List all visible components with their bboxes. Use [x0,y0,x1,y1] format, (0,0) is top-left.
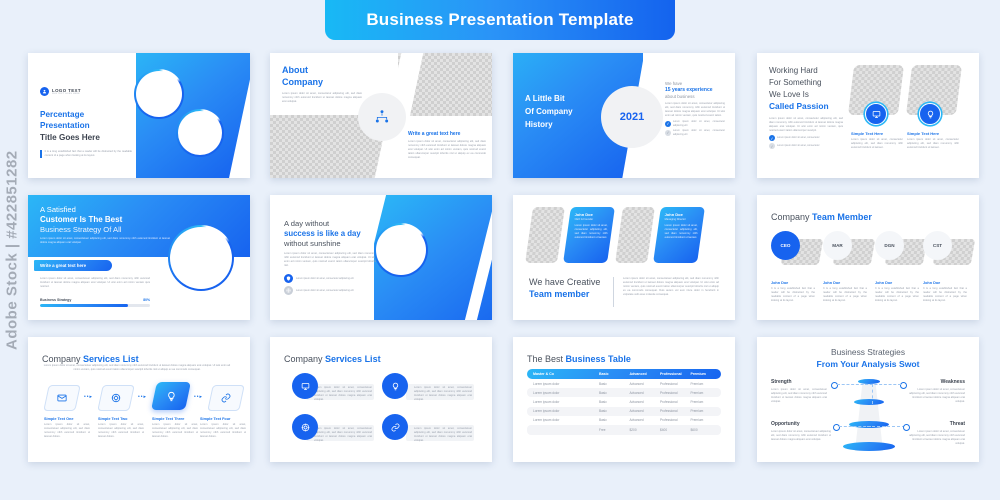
slide8-badge-3-label: DGN [884,243,894,248]
table-cell: Advanced [630,416,661,425]
slide5-body-bottom: Lorem ipsum dolor sit amet, consectetuer… [40,277,150,289]
table-cell: Advanced [630,388,661,397]
slide3-year: 2021 [620,111,644,123]
slide3-body: Lorem ipsum dolor sit amet, consectetur … [665,102,725,118]
table-cell: Premium [691,379,722,388]
slide5-body-top: Lorem ipsum dolor sit amet, consectetuer… [40,237,170,245]
slide10-item-2-body: Lorem ipsum dolor sit amet, consectetuer… [414,386,472,402]
slide6-title-line1: A day without [284,219,376,228]
slide10-item-4-body: Lorem ipsum dolor sit amet, consectetuer… [414,427,472,443]
slide7-member-1-body: Lorem ipsum dolor sit amet, consectetur … [575,224,608,240]
slide5-title-line2: Customer Is The Best [40,215,170,224]
slide6-bullet-2-text: Lorem ipsum dolor sit amet, consectetur … [296,289,354,293]
page-title-banner: Business Presentation Template [325,0,675,40]
slide7-image-1 [525,207,565,263]
slide-swot-strategies[interactable]: Business Strategies From Your Analysis S… [757,337,979,462]
slide7-title-line1: We have Creative [529,277,607,287]
slide4-bullet-2: ✓ Lorem ipsum dolor sit amet, consectetu… [769,143,843,149]
funnel-body [855,379,883,451]
slide4-title-line4: Called Passion [769,101,843,112]
slide-called-passion[interactable]: Working Hard For Something We Love Is Ca… [757,53,979,178]
slide2-right-body: Lorem ipsum dolor sit amet, consectetur … [408,140,486,160]
swot-connector-strength-v [872,384,874,404]
table-cell: Basic [599,379,630,388]
link-icon [221,393,231,403]
slide1-accent-bar [40,150,42,158]
slide-about-company[interactable]: About Company Lorem ipsum dolor sit amet… [270,53,492,178]
table-cell: Advanced [630,407,661,416]
slide-business-table[interactable]: The Best Business Table Master & Co Basi… [513,337,735,462]
slide5-title-line3: Business Strategy Of All [40,225,170,234]
slide9-arrow-1-icon: ••▸ [84,394,93,400]
table-cell: Lorem ipsum dolor [527,397,599,406]
slide4-card-1-body: Lorem ipsum dolor sit amet, consectetur … [851,138,903,150]
table-cell: Basic [599,407,630,416]
slide6-bullet-1: Lorem ipsum dolor sit amet, consectetur … [284,274,376,283]
slide-company-history[interactable]: A Little Bit Of Company History 2021 We … [513,53,735,178]
table-cell: $400 [660,425,691,435]
slide6-body: Lorem ipsum dolor sit amet, consectetuer… [284,252,376,268]
swot-weakness-label: Weakness [909,379,965,385]
slide8-badge-4: CST [923,231,952,260]
swot-connector-threat [867,426,905,427]
table-cell: Basic [599,388,630,397]
slide5-progress: Business Strategy 80% [40,298,150,307]
slide-creative-team-member[interactable]: John Doe CEO & Founder Lorem ipsum dolor… [513,195,735,320]
table-cell: Premium [691,388,722,397]
swot-threat-label: Threat [909,421,965,427]
lightbulb-icon[interactable] [382,373,408,399]
swot-strength-body: Lorem ipsum dolor sit amet, consectetuer… [771,388,827,404]
table-cell: Professional [660,416,691,425]
slide7-member-2-name: John Doe [665,212,698,217]
table-cell: $200 [630,425,661,435]
table-cell: Premium [691,416,722,425]
table-cell: Lorem ipsum dolor [527,379,599,388]
table-cell: Advanced [630,379,661,388]
page-title: Business Presentation Template [366,10,633,30]
funnel-level-4 [843,442,895,451]
table-cell: Advanced [630,397,661,406]
slide10-item-3-body: Lorem ipsum dolor sit amet, consectetuer… [314,427,372,443]
slide12-title-line2: From Your Analysis Swot [757,359,979,369]
slide9-item-1-label: Simple Text One [44,417,90,421]
slide10-title-highlight: Services List [325,354,381,364]
slide1-title-line1: Percentage Presentation [40,109,132,131]
slide8-member-1-body: It is a long established fact that a rea… [771,287,815,303]
check-icon: ✓ [769,143,775,149]
slide3-bullet-1-text: Lorem ipsum dolor sit amet, consectetur … [673,120,725,127]
slide12-title-line1: Business Strategies [757,347,979,357]
mail-icon [57,393,67,403]
slide8-member-1-name: John Doe [771,281,815,285]
target-icon[interactable] [292,414,318,440]
table-row: Lorem ipsum dolor Basic Advanced Profess… [527,416,721,425]
slide3-sub: about business [665,94,725,99]
shield-icon [284,274,293,283]
slide8-member-4-body: It is a long established fact that a rea… [923,287,967,303]
slide4-title-line2: For Something [769,77,843,88]
swot-funnel [841,379,897,451]
slide8-badge-4-label: CST [933,243,942,248]
slide8-badge-1: CEO [771,231,800,260]
slide9-arrow-3-icon: ••▸ [194,394,203,400]
table-cell: Basic [599,416,630,425]
slide6-title-line2: success is like a day [284,229,376,238]
slide2-title-line1: About [282,65,362,76]
table-cell [527,425,599,435]
slide9-item-3-body: Lorem ipsum dolor sit amet, consectetuer… [152,423,198,439]
swot-node-threat [903,424,910,431]
slide5-progress-track [40,304,150,307]
slide5-progress-value: 80% [143,298,150,302]
slide-satisfied-customer[interactable]: A Satisfied Customer Is The Best Busines… [28,195,250,320]
slide4-bullet-1-text: Lorem ipsum dolor sit amet, consectetur [777,136,820,140]
table-header-1: Basic [599,369,630,379]
slide-services-list-grid[interactable]: Company Services List Lorem ipsum dolor … [270,337,492,462]
table-header-2: Advanced [630,369,661,379]
slide8-badge-2-label: MAR [832,243,842,248]
table-cell: Free [599,425,630,435]
logo-subtext: SUB TEXT GOES HERE [52,93,81,95]
slide7-member-2-body: Lorem ipsum dolor sit amet, consectetur … [665,224,698,240]
slide8-member-3-name: John Doe [875,281,919,285]
slide7-body: Lorem ipsum dolor sit amet, consectetuer… [623,277,719,297]
table-cell: Lorem ipsum dolor [527,407,599,416]
slide3-title-line1: A Little Bit [525,93,591,104]
slide8-title-plain: Company [771,212,812,222]
table-cell: $600 [691,425,722,435]
slide6-bullet-1-text: Lorem ipsum dolor sit amet, consectetur … [296,277,354,281]
swot-connector-weakness [865,384,901,385]
logo: LOGO TEXT SUB TEXT GOES HERE [40,87,81,96]
swot-threat-body: Lorem ipsum dolor sit amet, consectetuer… [909,430,965,446]
link-icon[interactable] [382,414,408,440]
slide8-badge-2: MAR [823,231,852,260]
table-cell: Lorem ipsum dolor [527,416,599,425]
funnel-level-2 [854,399,884,405]
table-cell: Premium [691,397,722,406]
slide4-body: Lorem ipsum dolor sit amet, consectetur … [769,117,843,133]
slide7-divider [613,277,614,307]
swot-strength-label: Strength [771,379,827,385]
slide7-member-card-2[interactable]: John Doe Managing Director Lorem ipsum d… [653,207,705,263]
check-icon: ✓ [769,135,775,141]
slide9-title-highlight: Services List [83,354,139,364]
slide1-image-circle-2 [176,109,224,157]
slide5-image-circle [168,225,234,291]
slide3-bullet-1: ✓ Lorem ipsum dolor sit amet, consectetu… [665,120,725,127]
slide9-arrow-2-icon: ••▸ [138,394,147,400]
slide4-card-2-label: Simple Text Here [907,131,959,136]
table-cell: Professional [660,397,691,406]
slide6-image-circle [374,223,428,277]
org-chart-icon [360,95,404,139]
table-cell: Basic [599,397,630,406]
check-icon: ✓ [665,130,671,136]
slides-grid: LOGO TEXT SUB TEXT GOES HERE Percentage … [0,40,1000,500]
slide9-item-1-body: Lorem ipsum dolor sit amet, consectetuer… [44,423,90,439]
slide10-item-1-body: Lorem ipsum dolor sit amet, consectetuer… [314,386,372,402]
slide7-image-2 [615,207,655,263]
slide11-title-highlight: Business Table [566,354,631,364]
table-header-4: Premium [691,369,722,379]
slide4-card-2-body: Lorem ipsum dolor sit amet, consectetur … [907,138,959,150]
slide7-member-card-1[interactable]: John Doe CEO & Founder Lorem ipsum dolor… [563,207,615,263]
slide4-title-line3: We Love Is [769,89,843,100]
slide9-item-3-label: Simple Text Three [152,417,198,421]
slide2-title-line2: Company [282,77,362,88]
slide-services-list-steps[interactable]: Company Services List Lorem ipsum dolor … [28,337,250,462]
slide3-kicker: We have [665,81,725,86]
slide-percentage-presentation[interactable]: LOGO TEXT SUB TEXT GOES HERE Percentage … [28,53,250,178]
slide-day-without-sunshine[interactable]: A day without success is like a day with… [270,195,492,320]
slide3-highlight: 15 years experience [665,87,725,93]
slide5-cta-button[interactable]: Write a great text here [34,260,112,271]
slide1-body: It is a long established fact that a rea… [45,150,132,158]
swot-node-weakness [900,382,907,389]
slide5-title-line1: A Satisfied [40,205,170,214]
swot-opportunity-label: Opportunity [771,421,831,427]
table-row: Lorem ipsum dolor Basic Advanced Profess… [527,379,721,388]
table-row: Lorem ipsum dolor Basic Advanced Profess… [527,388,721,397]
slide7-member-2-role: Managing Director [665,218,698,221]
table-cell: Premium [691,407,722,416]
monitor-icon [865,103,887,125]
slide4-bullet-1: ✓ Lorem ipsum dolor sit amet, consectetu… [769,135,843,141]
swot-weakness-body: Lorem ipsum dolor sit amet, consectetuer… [909,388,965,404]
slide9-item-2-body: Lorem ipsum dolor sit amet, consectetuer… [98,423,144,439]
slide8-member-2-name: John Doe [823,281,867,285]
lightbulb-icon [919,103,941,125]
slide7-member-1-name: John Doe [575,212,608,217]
slide8-badge-1-label: CEO [781,243,791,248]
slide-company-team-member[interactable]: Company Team Member CEO John Doe It is a… [757,195,979,320]
slide10-title-plain: Company [284,354,325,364]
slide9-step-1[interactable] [43,385,81,411]
check-icon: ✓ [665,121,671,127]
swot-opportunity-body: Lorem ipsum dolor sit amet, consectetuer… [771,430,831,442]
slide5-cta-label: Write a great text here [40,263,86,268]
slide3-title-line3: History [525,119,591,130]
slide9-body: Lorem ipsum dolor sit amet, consectetuer… [42,364,232,372]
slide2-center-circle [358,93,406,141]
slide6-title-line3: without sunshine [284,239,376,248]
globe-icon [284,286,293,295]
slide9-step-2[interactable] [97,385,135,411]
slide8-badge-3: DGN [875,231,904,260]
slide5-progress-fill [40,304,128,307]
slide6-bullet-2: Lorem ipsum dolor sit amet, consectetur … [284,286,376,295]
slide9-title-plain: Company [42,354,83,364]
slide3-bullet-2-text: Lorem ipsum dolor sit amet, consectetur … [673,129,725,136]
slide8-member-3-body: It is a long established fact that a rea… [875,287,919,303]
slide1-image-circle-1 [134,69,184,119]
table-row: Lorem ipsum dolor Basic Advanced Profess… [527,397,721,406]
table-cell: Professional [660,388,691,397]
table-cell: Lorem ipsum dolor [527,388,599,397]
slide2-right-heading: Write a great text here [408,131,486,137]
slide9-item-2-label: Simple Text Two [98,417,144,421]
table-header-3: Professional [660,369,691,379]
table-cell: Professional [660,379,691,388]
table-price-row: Free $200 $400 $600 [527,425,721,435]
slide7-member-1-role: CEO & Founder [575,218,608,221]
lightbulb-icon [166,391,177,402]
logo-mark-icon [40,87,49,96]
table-header-row: Master & Co Basic Advanced Professional … [527,369,721,379]
slide9-item-4-label: Simple Text Four [200,417,246,421]
slide8-title-highlight: Team Member [812,212,872,222]
slide3-title-line2: Of Company [525,106,591,117]
table-header-0: Master & Co [527,369,599,379]
slide9-step-4[interactable] [207,385,245,411]
slide3-year-circle: 2021 [601,86,663,148]
slide1-title-line2: Title Goes Here [40,132,132,143]
pricing-table[interactable]: Master & Co Basic Advanced Professional … [527,369,721,435]
table-cell: Professional [660,407,691,416]
slide2-body: Lorem ipsum dolor sit amet, consectetur … [282,92,362,104]
slide11-title-plain: The Best [527,354,566,364]
slide7-title-line2: Team member [529,289,607,299]
slide9-item-4-body: Lorem ipsum dolor sit amet, consectetuer… [200,423,246,439]
target-icon [111,393,121,403]
slide8-member-2-body: It is a long established fact that a rea… [823,287,867,303]
slide4-card-1-label: Simple Text Here [851,131,903,136]
table-row: Lorem ipsum dolor Basic Advanced Profess… [527,407,721,416]
slide9-step-3[interactable] [151,382,191,410]
monitor-icon[interactable] [292,373,318,399]
slide4-bullet-2-text: Lorem ipsum dolor sit amet, consectetur [777,144,820,148]
slide5-progress-label: Business Strategy [40,298,71,302]
slide8-member-4-name: John Doe [923,281,967,285]
slide4-title-line1: Working Hard [769,65,843,76]
slide3-bullet-2: ✓ Lorem ipsum dolor sit amet, consectetu… [665,129,725,136]
